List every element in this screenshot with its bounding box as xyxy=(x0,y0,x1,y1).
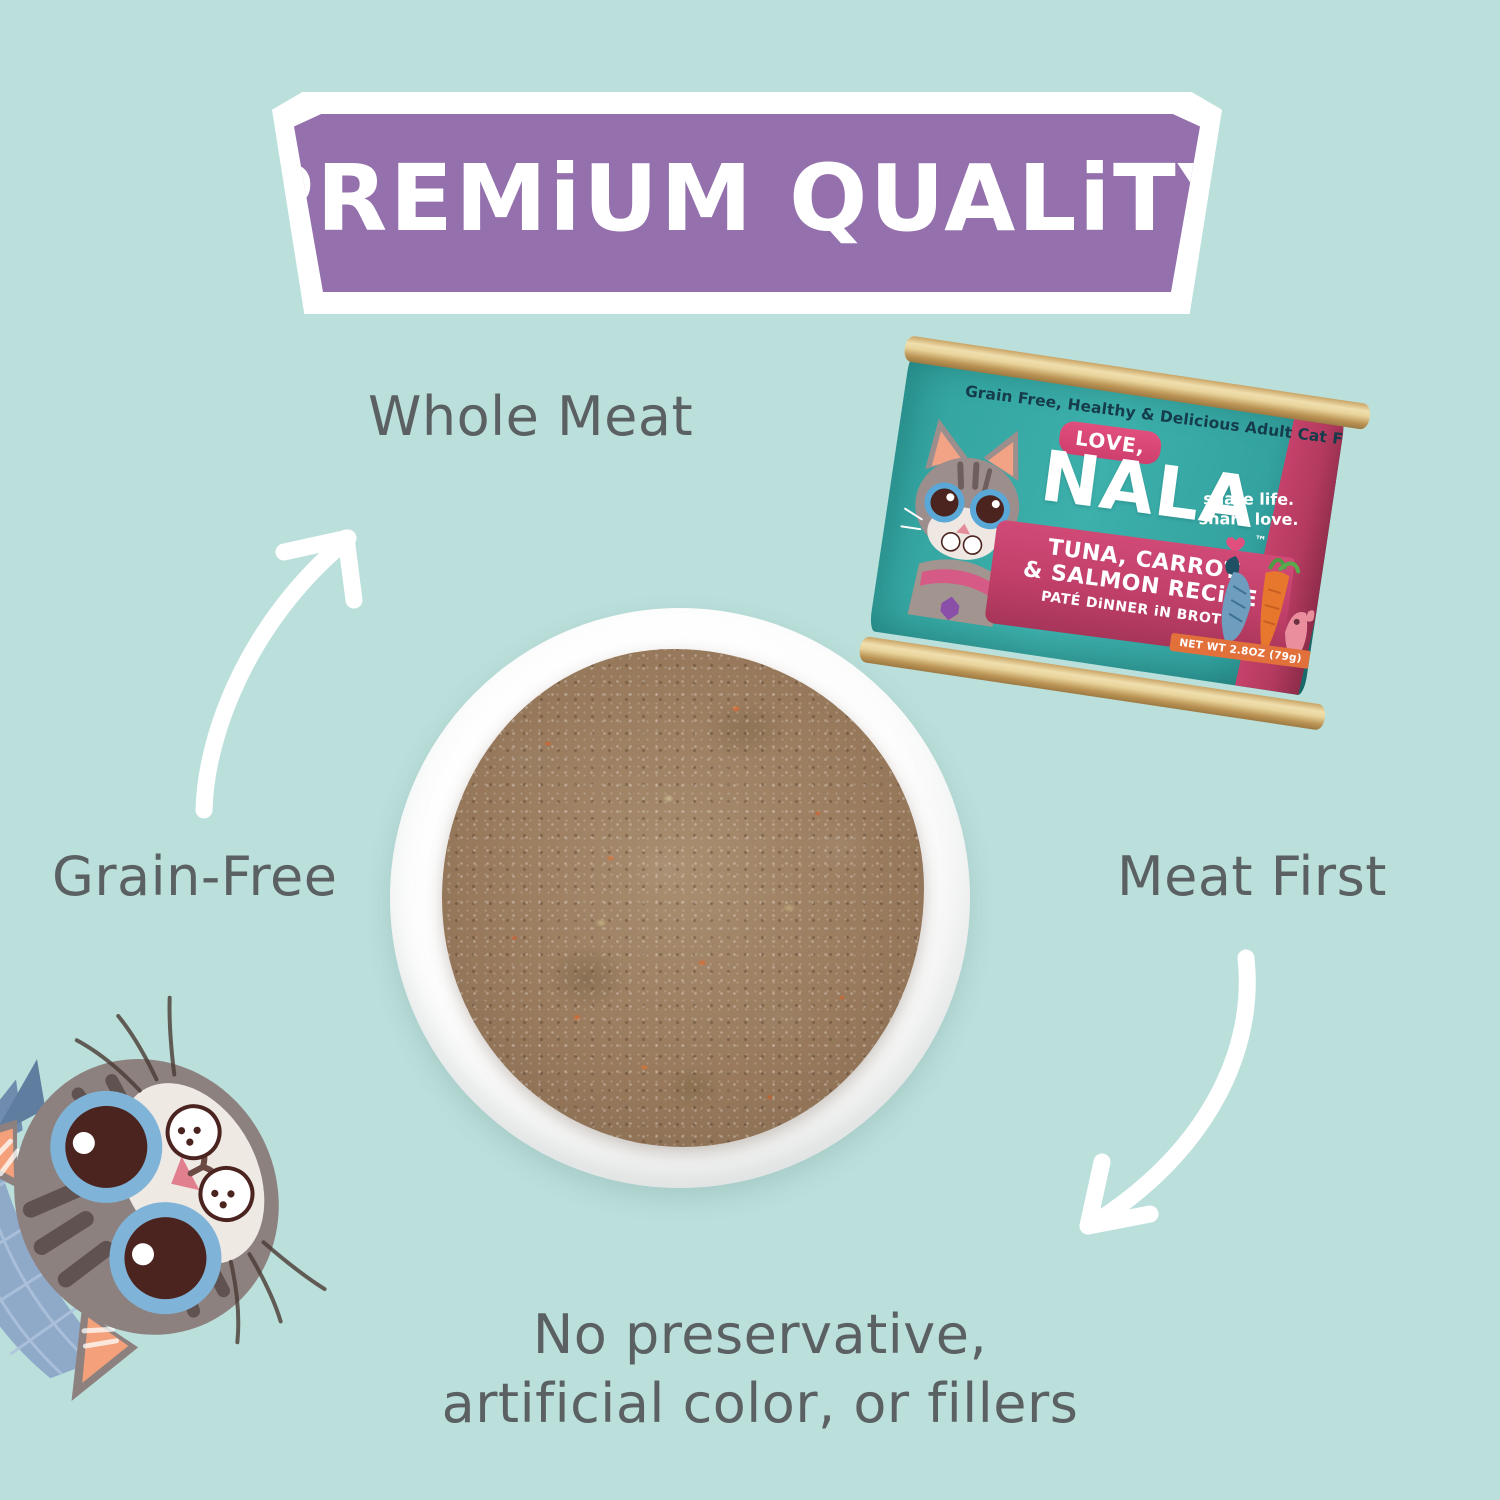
feature-label-meat-first: Meat First xyxy=(1117,845,1387,908)
premium-quality-banner: PREMiUM QUALiTY xyxy=(272,92,1222,314)
banner-fill: PREMiUM QUALiTY xyxy=(294,114,1200,292)
promo-graphic: PREMiUM QUALiTY Whole Meat Grain-Free Me… xyxy=(0,0,1500,1500)
arrow-down-left-icon xyxy=(1030,940,1310,1260)
share-tagline: share life. share love. xyxy=(1199,489,1299,531)
feature-label-grain-free: Grain-Free xyxy=(52,845,337,908)
banner-title: PREMiUM QUALiTY xyxy=(247,153,1248,245)
cat-food-pate xyxy=(442,649,923,1148)
feature-label-no-preservative: No preservative, artificial color, or fi… xyxy=(440,1300,1080,1438)
share-tagline-line1: share life. xyxy=(1199,489,1299,510)
arrow-up-right-icon xyxy=(160,500,410,830)
food-plate xyxy=(390,608,970,1188)
share-tagline-line2: share love. xyxy=(1199,510,1299,531)
nala-cat-mascot xyxy=(0,948,407,1459)
product-can: Grain Free, Healthy & Delicious Adult Ca… xyxy=(857,329,1372,735)
feature-label-whole-meat: Whole Meat xyxy=(368,385,693,448)
can-body: Grain Free, Healthy & Delicious Adult Ca… xyxy=(857,329,1372,735)
